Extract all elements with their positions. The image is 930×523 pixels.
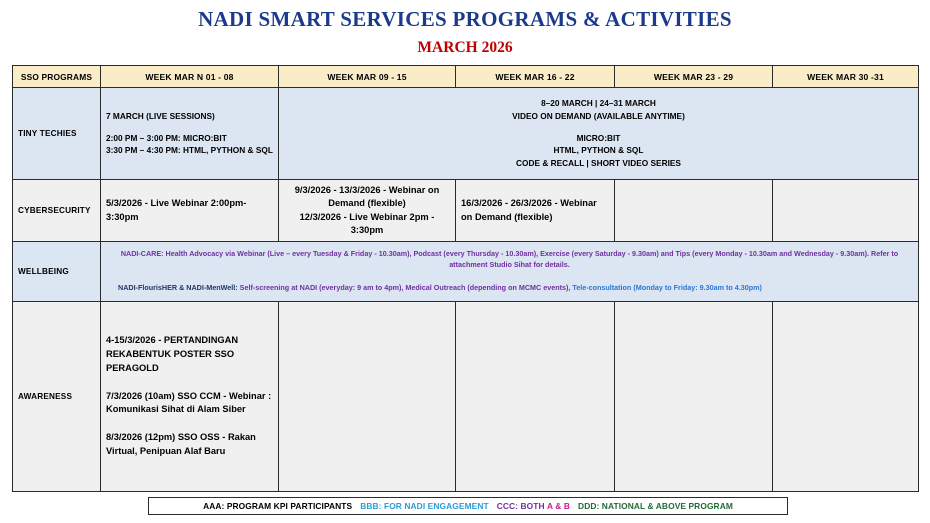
column-header-week-2: WEEK MAR 09 - 15 <box>279 66 456 88</box>
wellbeing-line2-part1: NADI-FlourisHER & NADI-MenWell: <box>118 283 238 292</box>
tiny-techies-merged-line4: HTML, PYTHON & SQL <box>554 145 644 155</box>
cybersecurity-w2-line2: 12/3/2026 - Live Webinar 2pm - 3:30pm <box>300 212 435 235</box>
tiny-techies-merged-line5: CODE & RECALL | SHORT VIDEO SERIES <box>516 158 681 168</box>
cybersecurity-w2-line1: 9/3/2026 - 13/3/2026 - Webinar on Demand… <box>295 185 440 208</box>
cell-cybersecurity-week-4 <box>615 180 773 242</box>
cell-awareness-week-1: 4-15/3/2026 - PERTANDINGAN REKABENTUK PO… <box>101 302 279 492</box>
spacer <box>106 123 273 132</box>
awareness-block-3: 8/3/2026 (12pm) SSO OSS - Rakan Virtual,… <box>106 431 273 459</box>
wellbeing-line-1: NADI-CARE: Health Advocacy via Webinar (… <box>106 249 913 271</box>
tiny-techies-merged-line2: VIDEO ON DEMAND (AVAILABLE ANYTIME) <box>512 111 685 121</box>
tiny-techies-w1-line3: 3:30 PM – 4:30 PM: HTML, PYTHON & SQL <box>106 145 273 155</box>
wellbeing-line2-part3: Tele-consultation (Monday to Friday: 9.3… <box>572 283 762 292</box>
cell-tiny-techies-weeks-2-to-5: 8–20 MARCH | 24–31 MARCH VIDEO ON DEMAND… <box>279 88 919 180</box>
cell-cybersecurity-week-2: 9/3/2026 - 13/3/2026 - Webinar on Demand… <box>279 180 456 242</box>
table-row-wellbeing: WELLBEING NADI-CARE: Health Advocacy via… <box>13 242 919 302</box>
cell-cybersecurity-week-5 <box>773 180 919 242</box>
cell-awareness-week-5 <box>773 302 919 492</box>
title-block: NADI SMART SERVICES PROGRAMS & ACTIVITIE… <box>0 0 930 58</box>
row-label-tiny-techies: TINY TECHIES <box>13 88 101 180</box>
table-row-awareness: AWARENESS 4-15/3/2026 - PERTANDINGAN REK… <box>13 302 919 492</box>
column-header-week-3: WEEK MAR 16 - 22 <box>456 66 615 88</box>
cell-tiny-techies-week-1: 7 MARCH (LIVE SESSIONS) 2:00 PM – 3:00 P… <box>101 88 279 180</box>
cell-wellbeing-all-weeks: NADI-CARE: Health Advocacy via Webinar (… <box>101 242 919 302</box>
cell-cybersecurity-week-1: 5/3/2026 - Live Webinar 2:00pm-3:30pm <box>101 180 279 242</box>
legend-bbb: BBB: FOR NADI ENGAGEMENT <box>360 501 489 511</box>
page-subtitle: MARCH 2026 <box>0 39 930 58</box>
table-header: SSO PROGRAMS WEEK MAR N 01 - 08 WEEK MAR… <box>13 66 919 88</box>
legend-bar: AAA: PROGRAM KPI PARTICIPANTSBBB: FOR NA… <box>148 497 788 515</box>
cell-awareness-week-2 <box>279 302 456 492</box>
page-title: NADI SMART SERVICES PROGRAMS & ACTIVITIE… <box>0 6 930 32</box>
awareness-block-1: 4-15/3/2026 - PERTANDINGAN REKABENTUK PO… <box>106 334 273 376</box>
column-header-week-4: WEEK MAR 23 - 29 <box>615 66 773 88</box>
tiny-techies-merged-line3: MICRO:BIT <box>577 133 621 143</box>
awareness-block-2: 7/3/2026 (10am) SSO CCM - Webinar : Komu… <box>106 390 273 418</box>
schedule-table: SSO PROGRAMS WEEK MAR N 01 - 08 WEEK MAR… <box>12 65 919 492</box>
wellbeing-line2-part2: Self-screening at NADI (everyday: 9 am t… <box>238 283 573 292</box>
table-row-cybersecurity: CYBERSECURITY 5/3/2026 - Live Webinar 2:… <box>13 180 919 242</box>
tiny-techies-w1-line2: 2:00 PM – 3:00 PM: MICRO:BIT <box>106 133 227 143</box>
row-label-awareness: AWARENESS <box>13 302 101 492</box>
header-row: SSO PROGRAMS WEEK MAR N 01 - 08 WEEK MAR… <box>13 66 919 88</box>
schedule-table-wrapper: SSO PROGRAMS WEEK MAR N 01 - 08 WEEK MAR… <box>12 65 918 492</box>
row-label-wellbeing: WELLBEING <box>13 242 101 302</box>
row-label-cybersecurity: CYBERSECURITY <box>13 180 101 242</box>
tiny-techies-merged-line1: 8–20 MARCH | 24–31 MARCH <box>541 98 656 108</box>
table-row-tiny-techies: TINY TECHIES 7 MARCH (LIVE SESSIONS) 2:0… <box>13 88 919 180</box>
wellbeing-line-2: NADI-FlourisHER & NADI-MenWell: Self-scr… <box>106 283 913 294</box>
column-header-sso-programs: SSO PROGRAMS <box>13 66 101 88</box>
table-body: TINY TECHIES 7 MARCH (LIVE SESSIONS) 2:0… <box>13 88 919 492</box>
cell-awareness-week-4 <box>615 302 773 492</box>
legend-ccc-label: CCC: BOTH <box>497 501 545 511</box>
column-header-week-5: WEEK MAR 30 -31 <box>773 66 919 88</box>
schedule-page: NADI SMART SERVICES PROGRAMS & ACTIVITIE… <box>0 0 930 523</box>
cell-awareness-week-3 <box>456 302 615 492</box>
column-header-week-1: WEEK MAR N 01 - 08 <box>101 66 279 88</box>
legend-ddd: DDD: NATIONAL & ABOVE PROGRAM <box>578 501 733 511</box>
tiny-techies-w1-line1: 7 MARCH (LIVE SESSIONS) <box>106 111 215 121</box>
cell-cybersecurity-week-3: 16/3/2026 - 26/3/2026 - Webinar on Deman… <box>456 180 615 242</box>
legend-ccc-value: A & B <box>547 501 570 511</box>
legend-aaa: AAA: PROGRAM KPI PARTICIPANTS <box>203 501 352 511</box>
spacer <box>284 123 913 132</box>
